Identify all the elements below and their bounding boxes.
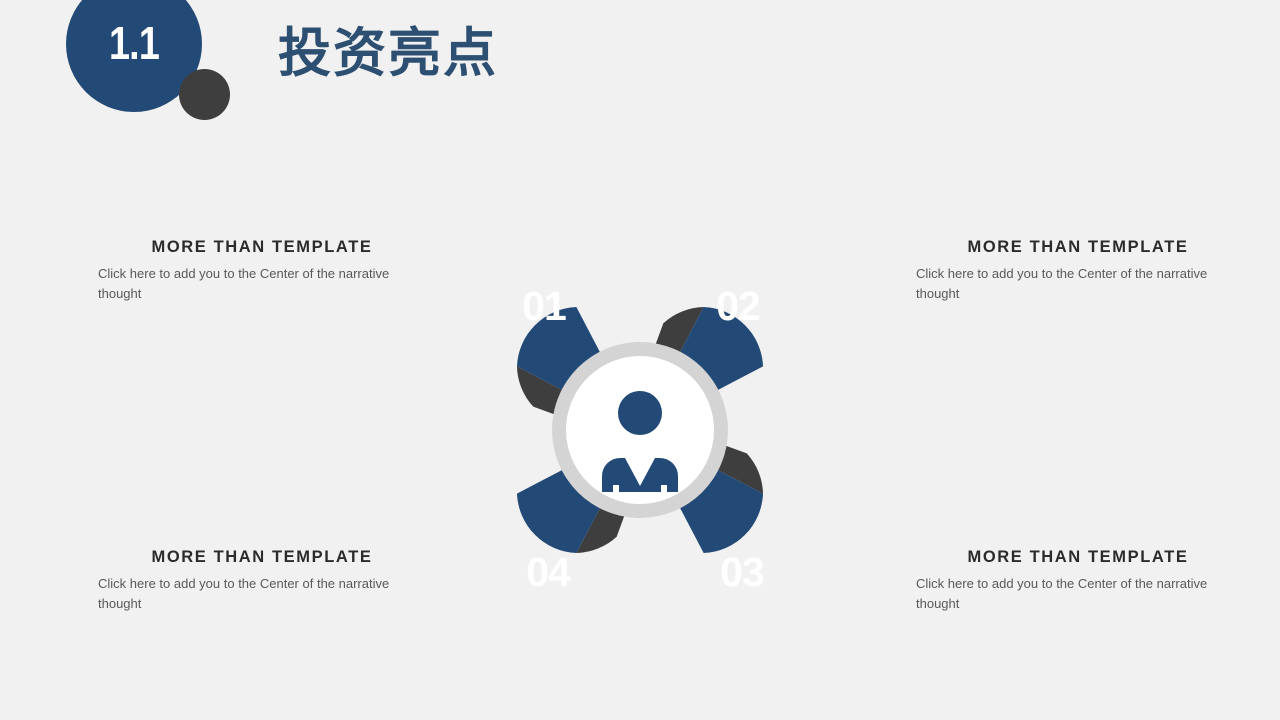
info-block-03-body: Click here to add you to the Center of t… xyxy=(916,574,1216,614)
decorative-dot xyxy=(179,69,230,120)
info-block-04-heading: MORE THAN TEMPLATE xyxy=(98,548,398,567)
info-block-02: MORE THAN TEMPLATE Click here to add you… xyxy=(916,238,1216,304)
info-block-02-heading: MORE THAN TEMPLATE xyxy=(916,238,1216,257)
info-block-02-body: Click here to add you to the Center of t… xyxy=(916,264,1216,304)
center-hub[interactable] xyxy=(552,342,728,518)
info-block-01-body: Click here to add you to the Center of t… xyxy=(98,264,398,304)
info-block-04: MORE THAN TEMPLATE Click here to add you… xyxy=(98,548,398,614)
info-block-01: MORE THAN TEMPLATE Click here to add you… xyxy=(98,238,398,304)
slide-header: 1.1 投资亮点 xyxy=(0,0,1280,140)
section-number-label: 1.1 xyxy=(78,16,190,70)
info-block-01-heading: MORE THAN TEMPLATE xyxy=(98,238,398,257)
petal-01-number: 01 xyxy=(522,283,566,329)
petal-04-number: 04 xyxy=(526,549,571,595)
info-block-03: MORE THAN TEMPLATE Click here to add you… xyxy=(916,548,1216,614)
petal-03-number: 03 xyxy=(720,549,764,595)
info-block-04-body: Click here to add you to the Center of t… xyxy=(98,574,398,614)
page-title: 投资亮点 xyxy=(278,24,498,85)
x-petal-diagram: 01 02 03 04 xyxy=(430,220,850,640)
info-block-03-heading: MORE THAN TEMPLATE xyxy=(916,548,1216,567)
petal-02-number: 02 xyxy=(716,283,760,329)
